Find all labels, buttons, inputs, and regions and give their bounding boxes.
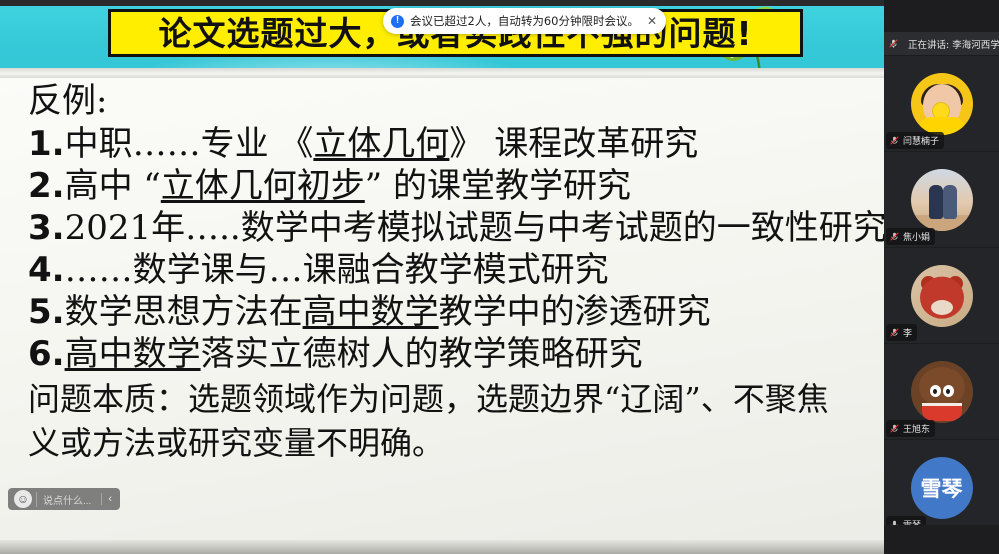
- slide-heading: 反例:: [28, 84, 884, 118]
- slide-note-line-1: 问题本质：选题领域作为问题，选题边界“辽阔”、不聚焦: [28, 379, 884, 419]
- item-number: 3.: [28, 208, 65, 248]
- participant-name: 李: [903, 326, 912, 339]
- meeting-notification-toast: ! 会议已超过2人，自动转为60分钟限时会议。 ✕: [383, 8, 666, 34]
- slide-list-item: 1.中职……专业 《立体几何》 课程改革研究: [28, 127, 884, 161]
- participant-name: 焦小娟: [903, 230, 930, 243]
- item-number: 4.: [28, 250, 65, 290]
- shared-screen-area[interactable]: 论文选题过大，或者实践性不强的问题! 反例: 1.中职……专业 《立体几何》 课…: [0, 0, 884, 554]
- mic-muted-icon: [889, 231, 900, 242]
- avatar: [911, 73, 973, 135]
- participant-tile[interactable]: 王旭东: [884, 344, 999, 440]
- avatar: [911, 265, 973, 327]
- item-pre: 2021年…..数学中考模拟试题与中考试题的一致性研究: [65, 208, 884, 248]
- chat-input-placeholder[interactable]: 说点什么...: [36, 492, 101, 507]
- mic-muted-icon: [889, 135, 900, 146]
- participant-name: 闫慧楠子: [903, 134, 939, 147]
- participant-name-pill: 焦小娟: [886, 228, 935, 245]
- item-number: 5.: [28, 292, 65, 332]
- slide-list-item: 5.数学思想方法在高中数学教学中的渗透研究: [28, 295, 884, 329]
- slide-bottom-edge: [0, 540, 884, 554]
- participant-name-pill: 李: [886, 324, 917, 341]
- item-underlined: 高中数学: [303, 292, 439, 332]
- item-underlined: 立体几何: [313, 124, 449, 164]
- participant-name-pill: 闫慧楠子: [886, 132, 944, 149]
- item-pre: 高中 “: [65, 166, 161, 206]
- speaking-name: 李海河西学院: [952, 40, 999, 51]
- item-post: ” 的课堂教学研究: [365, 166, 631, 206]
- avatar-initials: 雪琴: [921, 473, 963, 503]
- mic-muted-icon: [888, 38, 899, 49]
- participant-tile[interactable]: 李: [884, 248, 999, 344]
- item-number: 1.: [28, 124, 65, 164]
- item-post: 》 课程改革研究: [449, 124, 698, 164]
- toast-message: 会议已超过2人，自动转为60分钟限时会议。: [410, 13, 639, 29]
- participant-tile[interactable]: 雪琴 雪琴: [884, 440, 999, 525]
- mic-muted-icon: [889, 423, 900, 434]
- close-icon[interactable]: ✕: [647, 15, 657, 27]
- chat-input-bar[interactable]: ☺ 说点什么... ‹: [8, 488, 120, 510]
- slide-content: 反例: 1.中职……专业 《立体几何》 课程改革研究 2.高中 “立体几何初步”…: [28, 84, 884, 463]
- mic-active-icon: [889, 519, 900, 525]
- slide-list-item: 6.高中数学落实立德树人的教学策略研究: [28, 337, 884, 371]
- avatar: 雪琴: [911, 457, 973, 519]
- item-pre: ……数学课与…课融合教学模式研究: [65, 250, 609, 290]
- chevron-left-icon[interactable]: ‹: [101, 493, 118, 505]
- item-underlined: 高中数学: [65, 334, 201, 374]
- item-post: 落实立德树人的教学策略研究: [201, 334, 643, 374]
- item-number: 6.: [28, 334, 65, 374]
- participant-name-pill: 王旭东: [886, 420, 935, 437]
- mic-muted-icon: [889, 327, 900, 338]
- smiley-icon[interactable]: ☺: [14, 490, 32, 508]
- avatar: [911, 361, 973, 423]
- slide-list-item: 2.高中 “立体几何初步” 的课堂教学研究: [28, 169, 884, 203]
- slide-list-item: 3.2021年…..数学中考模拟试题与中考试题的一致性研究: [28, 211, 884, 245]
- item-pre: 数学思想方法在: [65, 292, 303, 332]
- item-pre: 中职……专业 《: [65, 124, 314, 164]
- participant-name: 雪琴: [903, 518, 921, 525]
- active-speaker-bar: 正在讲话: 李海河西学院: [884, 32, 999, 56]
- item-underlined: 立体几何初步: [161, 166, 365, 206]
- speaking-prefix: 正在讲话:: [908, 40, 949, 51]
- participant-tile[interactable]: 焦小娟: [884, 152, 999, 248]
- participant-name-pill: 雪琴: [886, 516, 926, 525]
- item-post: 教学中的渗透研究: [439, 292, 711, 332]
- speaking-label: 正在讲话: 李海河西学院: [908, 37, 999, 51]
- avatar: [911, 169, 973, 231]
- slide-list-item: 4.……数学课与…课融合教学模式研究: [28, 253, 884, 287]
- participant-tile[interactable]: 闫慧楠子: [884, 56, 999, 152]
- participants-sidebar[interactable]: 正在讲话: 李海河西学院 闫慧楠子 焦小娟: [884, 32, 999, 525]
- item-number: 2.: [28, 166, 65, 206]
- slide-note-line-2: 义或方法或研究变量不明确。: [28, 423, 884, 463]
- info-icon: !: [391, 15, 404, 28]
- participant-name: 王旭东: [903, 422, 930, 435]
